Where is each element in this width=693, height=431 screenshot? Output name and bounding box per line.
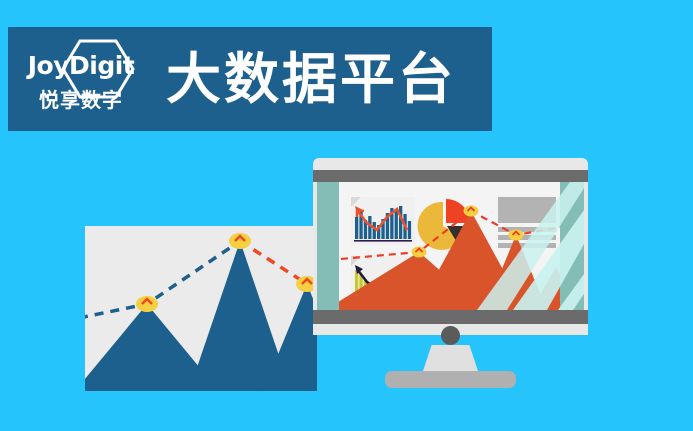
monitor-top-bezel: [313, 170, 588, 182]
banner-title: 大数据平台: [166, 52, 456, 107]
monitor-screen: [317, 182, 584, 310]
left-mountain-chart: [85, 200, 325, 392]
mountain-shape-4: [531, 267, 581, 310]
monitor-camera-dot: [441, 326, 460, 345]
brand-logo: JoyDigit 悦享数字: [22, 36, 140, 122]
monitor-stand-base: [385, 371, 516, 388]
header-banner: JoyDigit 悦享数字 大数据平台: [8, 27, 492, 131]
dashed-trend-line: [329, 211, 567, 260]
dashed-line-blue: [85, 241, 240, 318]
mountain-area-chart: [317, 182, 584, 310]
logo-subtitle: 悦享数字: [39, 90, 123, 110]
poster-canvas: JoyDigit 悦享数字 大数据平台: [0, 0, 693, 431]
logo-wordmark: JoyDigit: [28, 53, 135, 78]
monitor-bottom-bezel: [313, 310, 588, 324]
